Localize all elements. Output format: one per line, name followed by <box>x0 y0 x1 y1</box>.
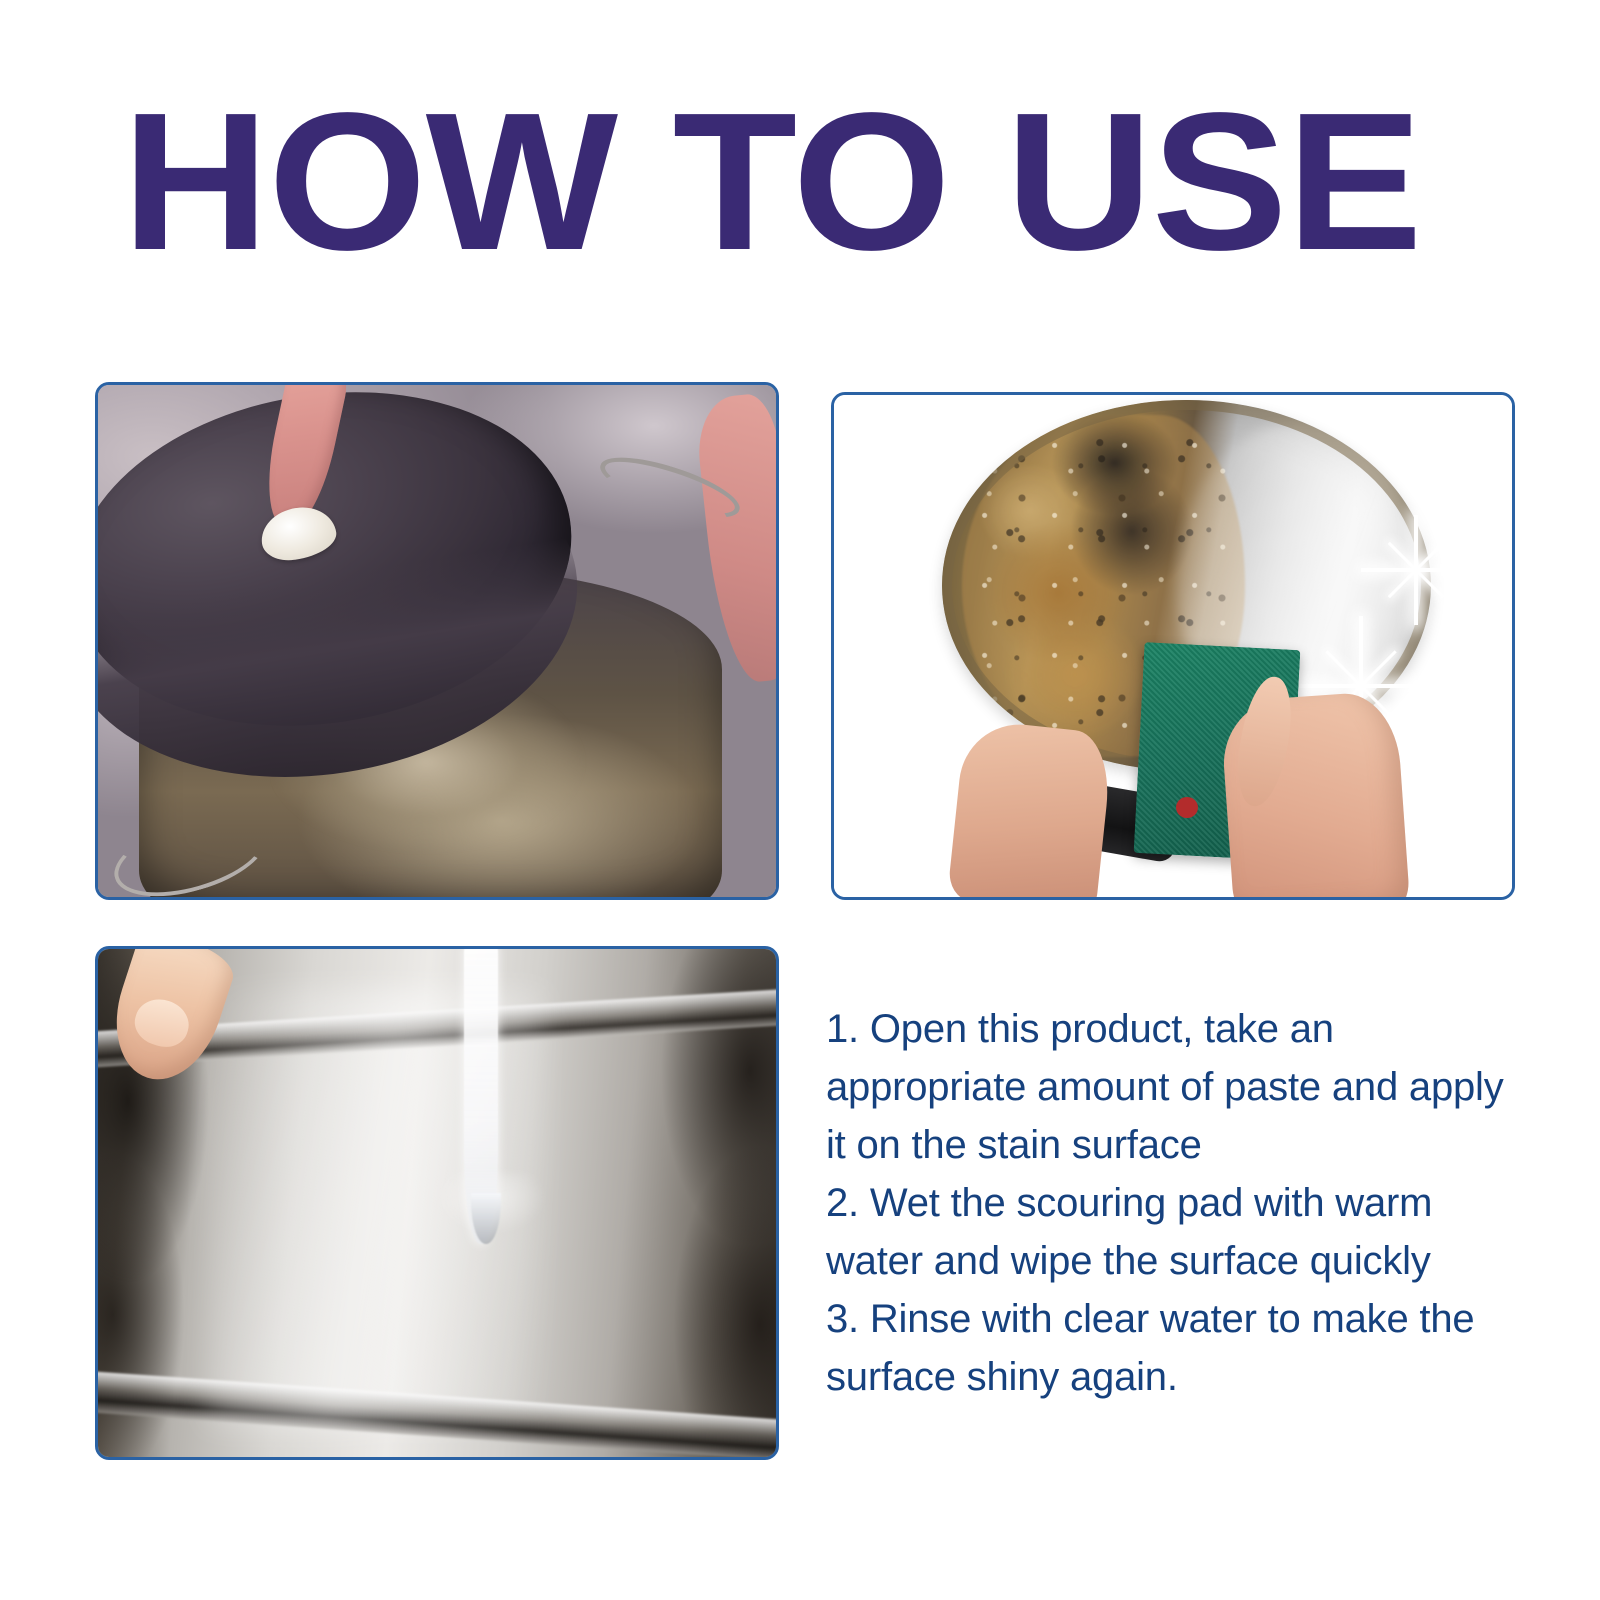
page-title: HOW TO USE <box>122 82 1532 282</box>
photo-scrub-pad <box>834 395 1512 897</box>
photo-apply-paste <box>98 385 776 897</box>
step-image-rinse-water <box>95 946 779 1460</box>
photo-rinse-water <box>98 949 776 1457</box>
how-to-use-infographic: HOW TO USE <box>0 0 1600 1600</box>
step-image-scrub-pad <box>831 392 1515 900</box>
painted-fingernail <box>1176 797 1198 818</box>
instructions-text: 1. Open this product, take an appropriat… <box>826 1000 1526 1406</box>
step-image-apply-paste <box>95 382 779 900</box>
left-hand <box>947 719 1114 897</box>
